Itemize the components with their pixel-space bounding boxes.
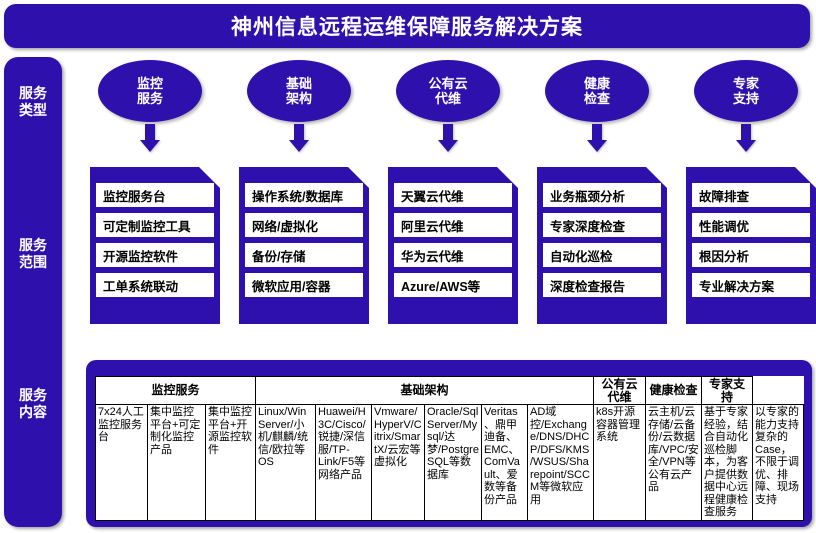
- service-scope-item[interactable]: 专家深度检查: [542, 212, 662, 238]
- service-type-ellipse-expert-support[interactable]: 专家 支持: [694, 60, 798, 122]
- service-type-node-expert-support[interactable]: 专家 支持: [694, 60, 798, 160]
- service-scope-item[interactable]: 阿里云代维: [393, 212, 513, 238]
- service-scope-card-health-check: 业务瓶颈分析 专家深度检查 自动化巡检 深度检查报告: [537, 167, 667, 324]
- service-type-row: 监控 服务 基础 架构 公有云 代维 健康 检查: [90, 60, 812, 160]
- service-scope-item[interactable]: 备份/存储: [244, 242, 364, 268]
- service-scope-item[interactable]: 专业解决方案: [691, 272, 811, 298]
- service-scope-item[interactable]: 业务瓶颈分析: [542, 182, 662, 208]
- table-cell: 集中监控平台+开源监控软件: [206, 405, 256, 521]
- service-type-ellipse-health-check[interactable]: 健康 检查: [545, 60, 649, 122]
- table-cell: 7x24人工监控服务台: [96, 405, 148, 521]
- table-cell: 基于专家经验，结合自动化巡检脚本，为客户提供数据中心远程健康检查服务: [702, 405, 753, 521]
- table-cell: Veritas、鼎甲迪备、EMC、ComVault、爱数等备份产品: [482, 405, 528, 521]
- service-type-label-infrastructure-line1: 基础: [286, 76, 312, 91]
- table-cell: Vmware/HyperV/Citrix/SmartX/云宏等虚拟化: [372, 405, 425, 521]
- service-scope-item[interactable]: 根因分析: [691, 242, 811, 268]
- service-type-node-health-check[interactable]: 健康 检查: [545, 60, 649, 160]
- sidebar-item-service-content: 服务 内容: [4, 387, 62, 421]
- service-scope-item[interactable]: 网络/虚拟化: [244, 212, 364, 238]
- page-title-banner: 神州信息远程运维保障服务解决方案: [4, 4, 810, 48]
- service-type-node-monitoring[interactable]: 监控 服务: [98, 60, 202, 160]
- service-type-ellipse-monitoring[interactable]: 监控 服务: [98, 60, 202, 122]
- sidebar-item-service-type-line1: 服务: [4, 85, 62, 102]
- service-scope-item[interactable]: 自动化巡检: [542, 242, 662, 268]
- service-scope-item[interactable]: 故障排查: [691, 182, 811, 208]
- service-scope-item[interactable]: 操作系统/数据库: [244, 182, 364, 208]
- table-header-monitoring: 监控服务: [96, 377, 256, 405]
- diagram-page: 神州信息远程运维保障服务解决方案 服务 类型 服务 范围 服务 内容 监控 服务…: [0, 0, 816, 533]
- service-type-label-expert-support-line2: 支持: [733, 91, 759, 106]
- service-scope-item[interactable]: 工单系统联动: [95, 272, 215, 298]
- table-header-public-cloud: 公有云代维: [594, 377, 646, 405]
- sidebar-item-service-type: 服务 类型: [4, 85, 62, 119]
- service-type-label-public-cloud-line1: 公有云: [428, 76, 467, 91]
- service-scope-item[interactable]: 开源监控软件: [95, 242, 215, 268]
- service-type-label-monitoring-line2: 服务: [137, 91, 163, 106]
- sidebar-item-service-type-line2: 类型: [4, 102, 62, 119]
- row-label-sidebar: 服务 类型 服务 范围 服务 内容: [4, 57, 62, 527]
- table-header-infrastructure: 基础架构: [256, 377, 594, 405]
- sidebar-item-service-content-line2: 内容: [4, 404, 62, 421]
- service-scope-item[interactable]: Azure/AWS等: [393, 272, 513, 298]
- service-type-ellipse-infrastructure[interactable]: 基础 架构: [247, 60, 351, 122]
- service-scope-item[interactable]: 监控服务台: [95, 182, 215, 208]
- service-scope-item[interactable]: 性能调优: [691, 212, 811, 238]
- service-scope-item[interactable]: 微软应用/容器: [244, 272, 364, 298]
- service-scope-row: 监控服务台 可定制监控工具 开源监控软件 工单系统联动 操作系统/数据库 网络/…: [90, 167, 812, 324]
- service-content-table: 监控服务 基础架构 公有云代维 健康检查 专家支持 7x24人工监控服务台 集中…: [95, 376, 804, 521]
- service-scope-item[interactable]: 深度检查报告: [542, 272, 662, 298]
- service-scope-card-expert-support: 故障排查 性能调优 根因分析 专业解决方案: [686, 167, 816, 324]
- service-type-label-health-check-line1: 健康: [584, 76, 610, 91]
- table-header-expert-support: 专家支持: [702, 377, 753, 405]
- sidebar-item-service-content-line1: 服务: [4, 387, 62, 404]
- service-type-node-public-cloud[interactable]: 公有云 代维: [396, 60, 500, 160]
- sidebar-item-service-scope-line1: 服务: [4, 237, 62, 254]
- table-cell: k8s开源容器管理系统: [594, 405, 646, 521]
- table-cell: Huawei/H3C/Cisco/锐捷/深信服/TP-Link/F5等网络产品: [316, 405, 372, 521]
- service-scope-card-monitoring: 监控服务台 可定制监控工具 开源监控软件 工单系统联动: [90, 167, 220, 324]
- service-type-ellipse-public-cloud[interactable]: 公有云 代维: [396, 60, 500, 122]
- table-cell: AD域控/Exchange/DNS/DHCP/DFS/KMS/WSUS/Shar…: [528, 405, 594, 521]
- table-cell: Linux/WinServer/小机/麒麟/统信/欧拉等OS: [256, 405, 316, 521]
- service-scope-item[interactable]: 天翼云代维: [393, 182, 513, 208]
- service-content-panel: 监控服务 基础架构 公有云代维 健康检查 专家支持 7x24人工监控服务台 集中…: [86, 360, 812, 527]
- service-type-label-monitoring-line1: 监控: [137, 76, 163, 91]
- service-scope-item[interactable]: 可定制监控工具: [95, 212, 215, 238]
- table-cell: 云主机/云存储/云备份/云数据库/VPC/安全/VPN等公有云产品: [646, 405, 702, 521]
- service-type-label-health-check-line2: 检查: [584, 91, 610, 106]
- service-type-label-expert-support-line1: 专家: [733, 76, 759, 91]
- table-cell: Oracle/SqlServer/Mysql/达梦/PostgreSQL等数据库: [425, 405, 482, 521]
- service-type-label-infrastructure-line2: 架构: [286, 91, 312, 106]
- service-type-label-public-cloud-line2: 代维: [435, 91, 461, 106]
- sidebar-item-service-scope-line2: 范围: [4, 254, 62, 271]
- service-scope-item[interactable]: 华为云代维: [393, 242, 513, 268]
- service-scope-card-public-cloud: 天翼云代维 阿里云代维 华为云代维 Azure/AWS等: [388, 167, 518, 324]
- sidebar-item-service-scope: 服务 范围: [4, 237, 62, 271]
- service-scope-card-infrastructure: 操作系统/数据库 网络/虚拟化 备份/存储 微软应用/容器: [239, 167, 369, 324]
- table-cell: 集中监控平台+可定制化监控产品: [148, 405, 206, 521]
- table-cell: 以专家的能力支持复杂的Case，不限于调优、排障、现场支持: [753, 405, 804, 521]
- table-row: 7x24人工监控服务台 集中监控平台+可定制化监控产品 集中监控平台+开源监控软…: [96, 405, 804, 521]
- table-header-health-check: 健康检查: [646, 377, 702, 405]
- table-header-row: 监控服务 基础架构 公有云代维 健康检查 专家支持: [96, 377, 804, 405]
- service-type-node-infrastructure[interactable]: 基础 架构: [247, 60, 351, 160]
- page-title: 神州信息远程运维保障服务解决方案: [231, 11, 583, 41]
